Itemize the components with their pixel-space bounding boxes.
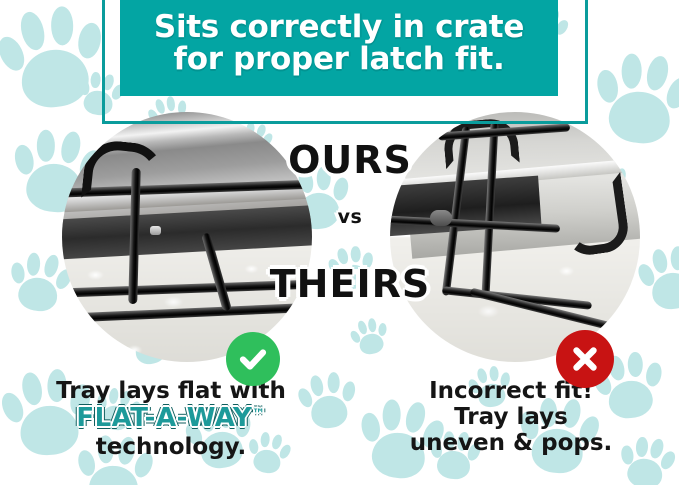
theirs-caption-line-3: uneven & pops.	[348, 430, 674, 456]
ours-label: OURS	[270, 138, 430, 182]
trademark-symbol: ™	[252, 408, 266, 423]
paw-print-icon	[348, 314, 392, 361]
theirs-caption-line-2: Tray lays	[348, 404, 674, 430]
paw-print-icon	[637, 243, 679, 318]
banner-line-1: Sits correctly in crate	[154, 9, 524, 45]
x-circle-icon	[556, 330, 614, 388]
ours-caption-line-3: technology.	[6, 434, 336, 460]
banner-line-2: for proper latch fit.	[154, 44, 524, 76]
ours-caption-line-1: Tray lays flat with	[6, 378, 336, 404]
theirs-caption: Incorrect fit! Tray lays uneven & pops.	[348, 378, 674, 457]
infographic-root: Sits correctly in crate for proper latch…	[0, 0, 679, 485]
brand-name: FLAT-A-WAY	[76, 404, 252, 434]
header-banner: Sits correctly in crate for proper latch…	[120, 0, 558, 96]
page-title: Sits correctly in crate for proper latch…	[146, 12, 532, 75]
ours-caption: Tray lays flat with FLAT-A-WAY™ technolo…	[6, 378, 336, 460]
brand-name-wrap: FLAT-A-WAY™	[6, 404, 336, 434]
theirs-label: THEIRS	[252, 262, 448, 306]
vs-label: vs	[300, 206, 400, 228]
theirs-caption-line-1: Incorrect fit!	[348, 378, 674, 404]
check-circle-icon	[226, 332, 280, 386]
